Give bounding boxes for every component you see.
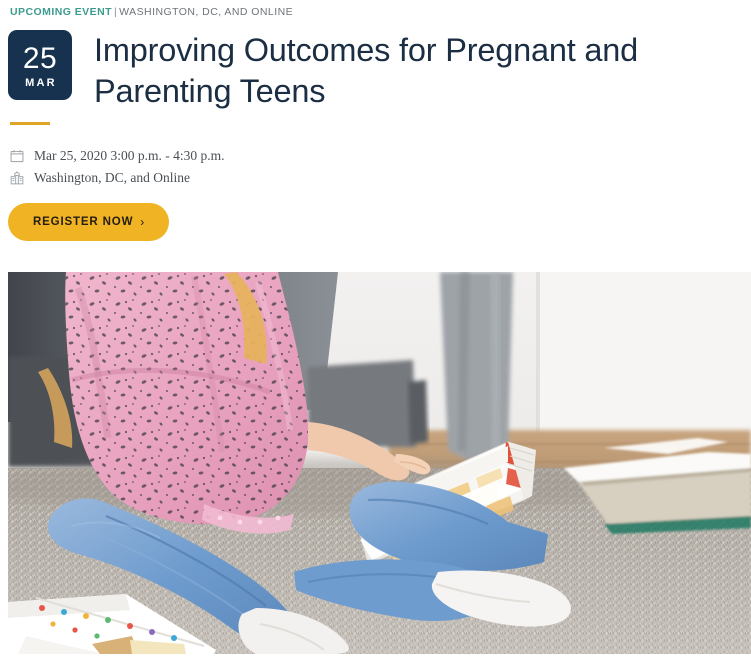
date-badge-month: MAR <box>23 76 57 90</box>
date-badge-day: 25 <box>23 43 57 75</box>
event-meta-datetime: Mar 25, 2020 3:00 p.m. - 4:30 p.m. <box>8 145 508 167</box>
event-header: 25 MAR Improving Outcomes for Pregnant a… <box>8 30 743 112</box>
event-datetime-text: Mar 25, 2020 3:00 p.m. - 4:30 p.m. <box>34 147 225 165</box>
hero-image <box>8 272 751 654</box>
accent-divider <box>10 122 50 125</box>
date-badge: 25 MAR <box>8 30 72 100</box>
event-hero-card: UPCOMING EVENT|WASHINGTON, DC, AND ONLIN… <box>0 0 751 666</box>
eyebrow-event-type: UPCOMING EVENT <box>10 6 112 18</box>
hero-image-illustration <box>8 272 751 654</box>
eyebrow: UPCOMING EVENT|WASHINGTON, DC, AND ONLIN… <box>10 5 293 19</box>
register-now-label: REGISTER NOW <box>33 215 133 229</box>
register-now-button[interactable]: REGISTER NOW › <box>8 203 169 241</box>
chevron-right-icon: › <box>140 216 144 228</box>
page-title: Improving Outcomes for Pregnant and Pare… <box>94 30 714 112</box>
eyebrow-location: WASHINGTON, DC, AND ONLINE <box>119 6 293 18</box>
event-meta-location: Washington, DC, and Online <box>8 167 508 189</box>
event-location-text: Washington, DC, and Online <box>34 169 190 187</box>
institution-icon <box>8 169 26 187</box>
event-meta-list: Mar 25, 2020 3:00 p.m. - 4:30 p.m. Washi… <box>8 145 508 189</box>
calendar-icon <box>8 147 26 165</box>
